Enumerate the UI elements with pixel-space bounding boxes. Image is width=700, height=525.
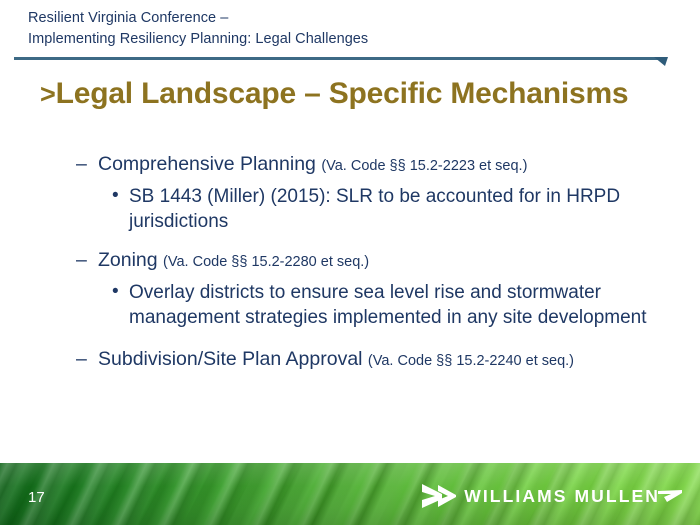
header-divider-arrow-icon <box>654 57 668 66</box>
bullet-label: Zoning <box>98 249 163 271</box>
bullet-sb-1443: •SB 1443 (Miller) (2015): SLR to be acco… <box>0 184 700 234</box>
bullet-overlay-districts: •Overlay districts to ensure sea level r… <box>0 280 700 330</box>
round-bullet-icon: • <box>112 279 119 304</box>
bullet-label: SB 1443 (Miller) (2015): SLR to be accou… <box>129 186 620 232</box>
dash-bullet-icon: – <box>76 347 87 371</box>
presentation-slide: Resilient Virginia Conference – Implemen… <box>0 0 700 525</box>
dash-bullet-icon: – <box>76 248 87 272</box>
bullet-label: Subdivision/Site Plan Approval <box>98 348 368 370</box>
logo-chevron-icon <box>420 483 458 509</box>
logo-flag-icon <box>658 489 682 503</box>
bullet-label: Overlay districts to ensure sea level ri… <box>129 282 647 328</box>
bullet-citation: (Va. Code §§ 15.2-2223 et seq.) <box>321 158 527 174</box>
page-title-text: Legal Landscape – Specific Mechanisms <box>56 77 629 110</box>
page-title: >Legal Landscape – Specific Mechanisms <box>40 76 640 112</box>
williams-mullen-logo: WILLIAMS MULLEN <box>420 483 682 509</box>
bullet-citation: (Va. Code §§ 15.2-2240 et seq.) <box>368 353 574 369</box>
header-divider <box>14 57 674 69</box>
slide-body: –Comprehensive Planning (Va. Code §§ 15.… <box>0 152 700 375</box>
bullet-label: Comprehensive Planning <box>98 153 321 175</box>
bullet-comprehensive-planning: –Comprehensive Planning (Va. Code §§ 15.… <box>0 152 700 178</box>
footer-banner: 17 WILLIAMS MULLEN <box>0 463 700 525</box>
bullet-subdivision-site-plan: –Subdivision/Site Plan Approval (Va. Cod… <box>0 347 700 373</box>
bullet-zoning: –Zoning (Va. Code §§ 15.2-2280 et seq.) <box>0 248 700 274</box>
dash-bullet-icon: – <box>76 152 87 176</box>
page-number: 17 <box>28 489 45 507</box>
header-line-1: Resilient Virginia Conference – <box>28 8 668 29</box>
bullet-citation: (Va. Code §§ 15.2-2280 et seq.) <box>163 254 369 270</box>
header-line-2: Implementing Resiliency Planning: Legal … <box>28 29 668 50</box>
header-divider-line <box>14 57 660 60</box>
title-chevron-icon: > <box>40 79 56 109</box>
round-bullet-icon: • <box>112 183 119 208</box>
logo-wordmark: WILLIAMS MULLEN <box>464 486 660 506</box>
slide-header: Resilient Virginia Conference – Implemen… <box>28 8 668 50</box>
